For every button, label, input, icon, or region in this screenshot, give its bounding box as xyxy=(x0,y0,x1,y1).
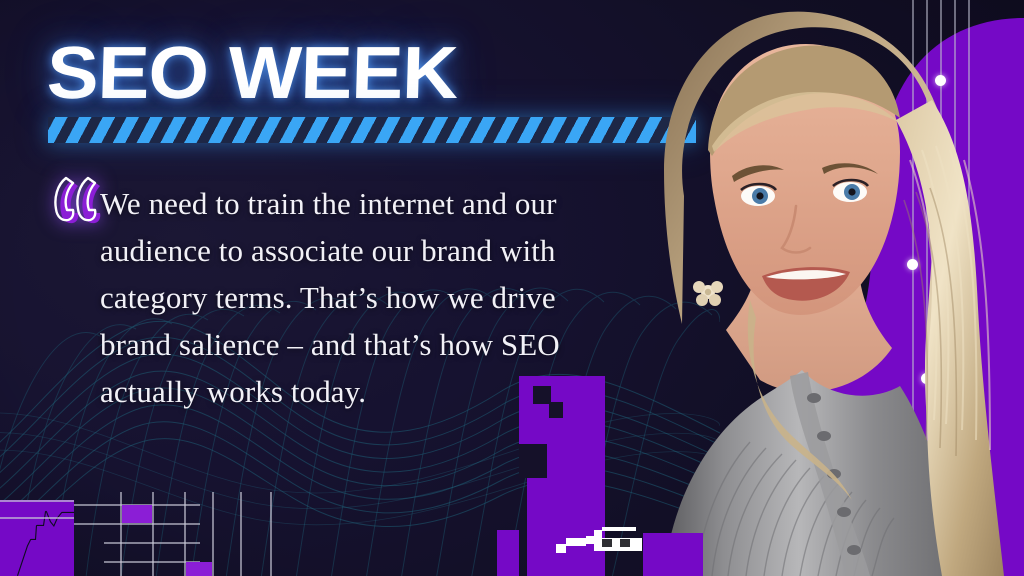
chart-rule-top xyxy=(0,500,74,502)
pixel-glitch-white xyxy=(556,527,660,557)
quote-open-icon xyxy=(46,172,106,226)
chart-rule xyxy=(0,517,74,519)
stripe-divider xyxy=(48,117,696,143)
page-title: SEO WEEK xyxy=(46,36,458,110)
grid-highlight-cell xyxy=(122,505,152,523)
slide-canvas: SEO WEEK We need to train the internet a… xyxy=(0,0,1024,576)
speaker-photo xyxy=(600,0,1024,576)
purple-area-chart xyxy=(0,500,74,576)
grid-highlight-cell xyxy=(186,562,212,576)
